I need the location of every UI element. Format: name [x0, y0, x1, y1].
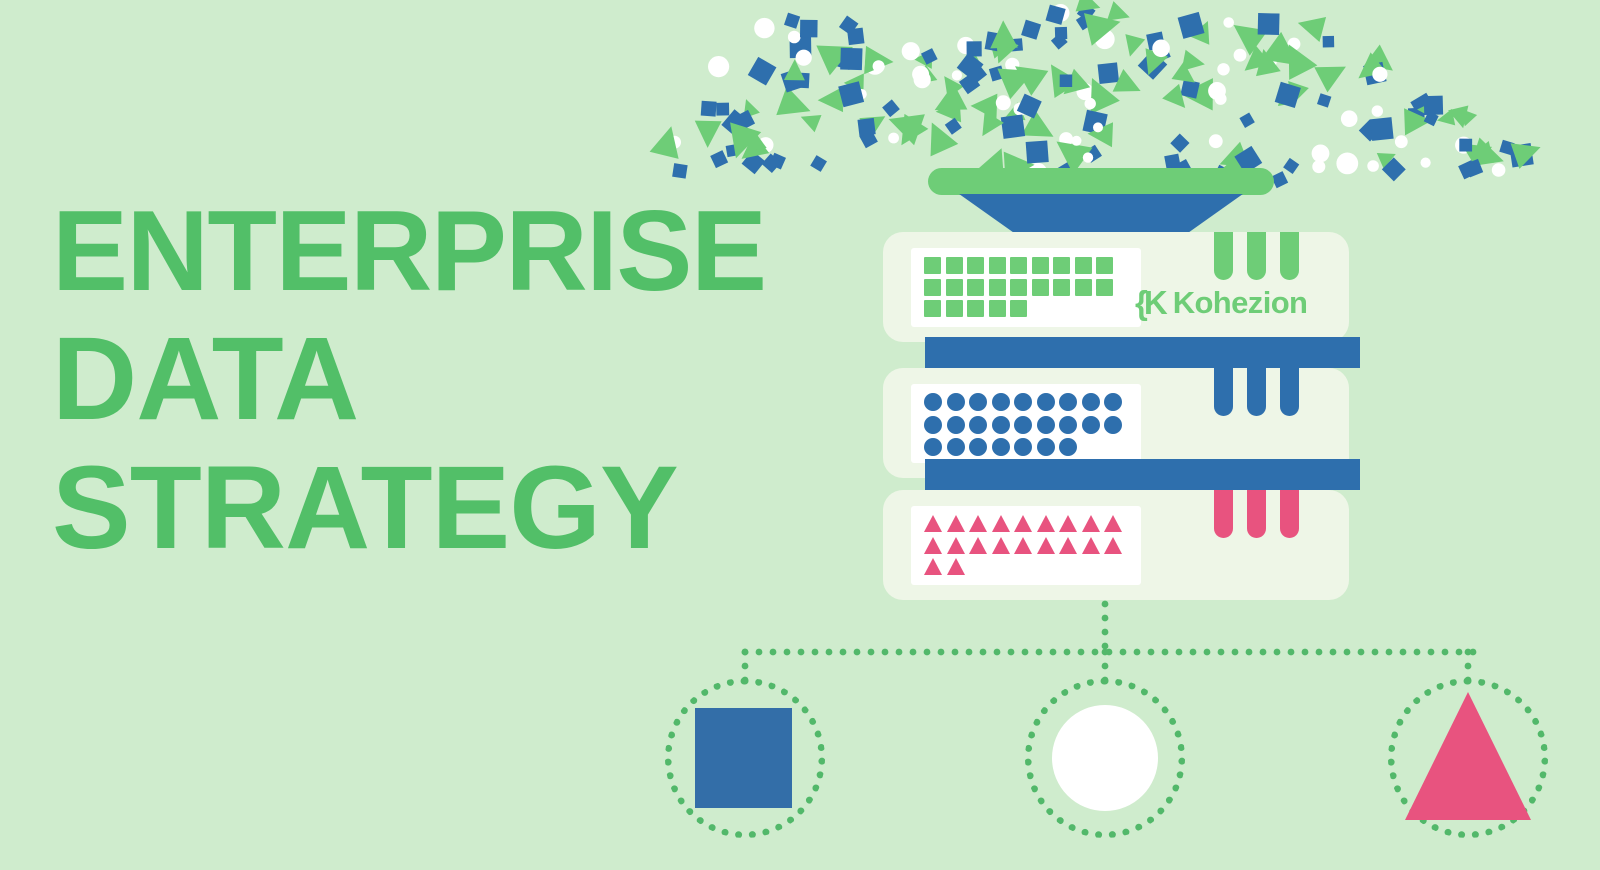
confetti-square-icon	[1060, 74, 1073, 87]
triangle-glyph-icon	[992, 515, 1010, 532]
connector-dot	[1465, 649, 1472, 656]
connector-dot	[1288, 649, 1295, 656]
confetti-triangle-icon	[1120, 34, 1145, 59]
circle-glyph-icon	[947, 393, 965, 411]
confetti-square-icon	[967, 41, 982, 56]
circle-glyph-icon	[924, 393, 942, 411]
confetti-triangle-icon	[816, 32, 859, 75]
confetti-triangle-icon	[970, 93, 997, 120]
confetti-triangle-icon	[859, 106, 891, 138]
connector-dot	[742, 649, 749, 656]
tube-icon	[1247, 232, 1266, 280]
connector-dot	[1102, 615, 1109, 622]
circle-glyph-icon	[924, 416, 942, 434]
tube-group-pink	[1214, 490, 1299, 538]
square-glyph-icon	[946, 279, 963, 296]
connector-dot	[1470, 649, 1477, 656]
kohezion-logo: {K Kohezion	[1135, 286, 1307, 319]
server-stack: {K Kohezion	[883, 232, 1349, 600]
confetti-square-icon	[1509, 143, 1533, 167]
connector-dot	[826, 649, 833, 656]
confetti-circle-icon	[1095, 29, 1115, 49]
square-glyph-icon	[1096, 257, 1113, 274]
confetti-circle-icon	[888, 133, 899, 144]
confetti-square-icon	[1323, 36, 1335, 48]
confetti-circle-icon	[902, 42, 920, 60]
confetti-triangle-icon	[935, 98, 961, 124]
confetti-circle-icon	[952, 70, 962, 80]
square-glyph-icon	[967, 279, 984, 296]
triangle-glyph-icon	[1104, 515, 1122, 532]
confetti-triangle-icon	[962, 48, 987, 73]
confetti-circle-icon	[1421, 158, 1431, 168]
connector-dot	[854, 649, 861, 656]
circle-glyph-icon	[924, 438, 942, 456]
confetti-square-icon	[1258, 13, 1280, 35]
circle-glyph-icon	[1014, 393, 1032, 411]
confetti-circle-icon	[1072, 136, 1082, 146]
connector-dot	[1176, 649, 1183, 656]
confetti-square-icon	[716, 103, 729, 116]
triangle-glyph-icon	[1059, 515, 1077, 532]
confetti-square-icon	[1317, 93, 1331, 107]
glyph-row	[924, 300, 1141, 317]
triangle-glyph-icon	[1104, 537, 1122, 554]
page-title: ENTERPRISE DATA STRATEGY	[52, 196, 852, 567]
connector-dot	[980, 649, 987, 656]
confetti-triangle-icon	[911, 65, 937, 91]
tube-group-blue	[1214, 368, 1299, 416]
triangle-glyph-icon	[1059, 537, 1077, 554]
square-glyph-icon	[924, 279, 941, 296]
title-line-2: DATA	[52, 322, 852, 438]
confetti-square-icon	[1424, 111, 1439, 126]
connector-dot	[1414, 649, 1421, 656]
confetti-square-icon	[1363, 62, 1386, 85]
connector-dot	[1008, 649, 1015, 656]
confetti-triangle-icon	[844, 73, 864, 93]
confetti-circle-icon	[1083, 152, 1093, 162]
confetti-square-icon	[1283, 158, 1299, 174]
confetti-square-icon	[1146, 32, 1165, 51]
confetti-triangle-icon	[889, 114, 928, 153]
confetti-circle-icon	[758, 137, 774, 153]
tube-icon	[1214, 490, 1233, 538]
kohezion-wordmark: Kohezion	[1173, 287, 1308, 318]
confetti-triangle-icon	[1448, 105, 1473, 130]
glyph-row	[924, 393, 1141, 411]
confetti-square-icon	[1010, 38, 1023, 51]
confetti-circle-icon	[754, 18, 774, 38]
circle-glyph-icon	[1037, 393, 1055, 411]
connector-dot	[1274, 649, 1281, 656]
glyph-panel-squares	[911, 248, 1141, 327]
circle-glyph-icon	[1037, 438, 1055, 456]
confetti-triangle-icon	[1435, 109, 1455, 129]
square-glyph-icon	[989, 279, 1006, 296]
circle-glyph-icon	[1082, 416, 1100, 434]
confetti-square-icon	[800, 20, 818, 38]
confetti-square-icon	[781, 68, 805, 92]
confetti-circle-icon	[1234, 49, 1247, 62]
confetti-triangle-icon	[1087, 121, 1113, 147]
confetti-triangle-icon	[1377, 146, 1399, 168]
connector-dot	[938, 649, 945, 656]
square-glyph-icon	[946, 300, 963, 317]
confetti-square-icon	[1055, 27, 1067, 39]
confetti-triangle-icon	[1055, 69, 1090, 104]
confetti-square-icon	[839, 16, 859, 36]
triangle-glyph-icon	[992, 537, 1010, 554]
confetti-circle-icon	[1395, 135, 1408, 148]
circle-glyph-icon	[1059, 438, 1077, 456]
confetti-triangle-icon	[1113, 69, 1146, 102]
confetti-circle-icon	[1336, 153, 1358, 175]
confetti-square-icon	[859, 130, 878, 149]
confetti-square-icon	[840, 48, 862, 70]
confetti-triangle-icon	[989, 33, 1014, 58]
confetti-circle-icon	[1492, 163, 1506, 177]
glyph-row	[924, 257, 1141, 274]
confetti-triangle-icon	[1275, 87, 1294, 106]
confetti-triangle-icon	[797, 108, 821, 132]
confetti-triangle-icon	[1364, 44, 1401, 81]
confetti-triangle-icon	[776, 86, 815, 125]
blue-square-shape	[695, 708, 792, 808]
circle-glyph-icon	[1037, 416, 1055, 434]
confetti-square-icon	[1359, 119, 1381, 141]
triangle-glyph-icon	[1037, 537, 1055, 554]
square-glyph-icon	[1053, 279, 1070, 296]
confetti-triangle-icon	[997, 56, 1040, 99]
circle-glyph-icon	[1104, 393, 1122, 411]
confetti-circle-icon	[1059, 132, 1073, 146]
confetti-triangle-icon	[1180, 78, 1213, 111]
node-circle	[1025, 678, 1185, 838]
confetti-square-icon	[959, 73, 980, 94]
confetti-circle-icon	[1414, 106, 1426, 118]
connector-dot	[1120, 649, 1127, 656]
triangle-glyph-icon	[1082, 515, 1100, 532]
square-glyph-icon	[989, 257, 1006, 274]
confetti-triangle-icon	[784, 59, 805, 80]
funnel-rim	[928, 168, 1274, 195]
confetti-triangle-icon	[1162, 84, 1193, 115]
connector-dot	[924, 649, 931, 656]
connector-dot	[1050, 649, 1057, 656]
connector-dot	[742, 663, 749, 670]
confetti-square-icon	[784, 13, 800, 29]
triangle-glyph-icon	[947, 558, 965, 575]
triangle-glyph-icon	[924, 558, 942, 575]
confetti-triangle-icon	[913, 50, 932, 69]
confetti-triangle-icon	[1251, 46, 1281, 76]
confetti-square-icon	[921, 48, 938, 65]
confetti-triangle-icon	[1404, 107, 1432, 135]
connector-dot	[1022, 649, 1029, 656]
confetti-triangle-icon	[1295, 10, 1327, 42]
confetti-triangle-icon	[936, 71, 963, 98]
connector-dot	[770, 649, 777, 656]
confetti-circle-icon	[1077, 83, 1094, 100]
circle-glyph-icon	[969, 416, 987, 434]
connector-dot	[1064, 649, 1071, 656]
confetti-circle-icon	[1260, 52, 1277, 69]
confetti-square-icon	[1275, 82, 1301, 108]
confetti-square-icon	[1082, 110, 1107, 135]
confetti-triangle-icon	[989, 20, 1017, 48]
confetti-circle-icon	[1312, 145, 1330, 163]
confetti-triangle-icon	[1076, 0, 1104, 19]
connector-dot	[742, 649, 749, 656]
confetti-circle-icon	[788, 31, 801, 44]
square-glyph-icon	[1010, 279, 1027, 296]
confetti-square-icon	[1138, 50, 1168, 80]
confetti-triangle-icon	[720, 122, 761, 163]
circle-glyph-icon	[992, 416, 1010, 434]
confetti-triangle-icon	[973, 111, 1004, 142]
confetti-square-icon	[794, 72, 810, 88]
connector-dot	[1102, 663, 1109, 670]
server-rail-2	[925, 459, 1360, 490]
square-glyph-icon	[1053, 257, 1070, 274]
confetti-square-icon	[701, 101, 717, 117]
white-circle-shape	[1052, 705, 1158, 811]
connector-dot	[1106, 649, 1113, 656]
square-glyph-icon	[1032, 257, 1049, 274]
confetti-square-icon	[1459, 139, 1472, 152]
confetti-square-icon	[1178, 12, 1205, 39]
confetti-triangle-icon	[1350, 52, 1386, 88]
connector-dot	[1148, 649, 1155, 656]
square-glyph-icon	[1010, 257, 1027, 274]
square-glyph-icon	[946, 257, 963, 274]
confetti-triangle-icon	[928, 84, 968, 124]
confetti-circle-icon	[668, 136, 681, 149]
connector-dot	[1316, 649, 1323, 656]
square-glyph-icon	[1096, 279, 1113, 296]
confetti-square-icon	[882, 99, 900, 117]
glyph-panel-dots	[911, 384, 1141, 463]
confetti-circle-icon	[1209, 134, 1223, 148]
confetti-square-icon	[726, 144, 739, 157]
confetti-square-icon	[989, 65, 1005, 81]
square-glyph-icon	[924, 300, 941, 317]
confetti-circle-icon	[1372, 67, 1387, 82]
confetti-square-icon	[1424, 96, 1443, 115]
confetti-triangle-icon	[1261, 32, 1308, 79]
confetti-triangle-icon	[1107, 1, 1133, 27]
confetti-triangle-icon	[1470, 137, 1508, 175]
confetti-circle-icon	[1372, 105, 1383, 116]
confetti-circle-icon	[957, 37, 974, 54]
confetti-square-icon	[1465, 159, 1483, 177]
connector-dot	[1302, 649, 1309, 656]
confetti-square-icon	[1021, 20, 1041, 40]
confetti-triangle-icon	[1225, 12, 1268, 55]
confetti-triangle-icon	[1182, 50, 1207, 75]
confetti-triangle-icon	[918, 116, 958, 156]
confetti-square-icon	[721, 109, 750, 138]
glyph-row	[924, 558, 1141, 575]
poster-canvas: ENTERPRISE DATA STRATEGY {K Kohezion	[0, 0, 1600, 870]
confetti-square-icon	[672, 163, 688, 179]
triangle-glyph-icon	[1037, 515, 1055, 532]
confetti-triangle-icon	[1511, 134, 1545, 168]
server-rail-1	[925, 337, 1360, 368]
connector-dot	[1092, 649, 1099, 656]
confetti-square-icon	[1076, 13, 1093, 30]
confetti-circle-icon	[1090, 19, 1109, 38]
circle-glyph-icon	[1014, 416, 1032, 434]
connector-dot	[1078, 649, 1085, 656]
confetti-triangle-icon	[694, 121, 721, 148]
confetti-square-icon	[1153, 44, 1170, 61]
tube-icon	[1280, 368, 1299, 416]
confetti-triangle-icon	[739, 132, 766, 159]
circle-glyph-icon	[947, 438, 965, 456]
confetti-triangle-icon	[987, 36, 1019, 68]
glyph-row	[924, 416, 1141, 434]
glyph-row	[924, 515, 1141, 532]
confetti-square-icon	[810, 155, 827, 172]
circle-glyph-icon	[969, 393, 987, 411]
connector-dot	[994, 649, 1001, 656]
confetti-square-icon	[957, 53, 984, 80]
glyph-row	[924, 438, 1141, 456]
confetti-square-icon	[857, 118, 875, 136]
confetti-square-icon	[1408, 108, 1425, 125]
confetti-square-icon	[945, 118, 962, 135]
confetti-triangle-icon	[738, 96, 760, 118]
connector-dot	[1218, 649, 1225, 656]
triangle-glyph-icon	[1082, 537, 1100, 554]
connector-dot	[1102, 601, 1109, 608]
triangle-glyph-icon	[924, 537, 942, 554]
confetti-square-icon	[1239, 113, 1254, 128]
confetti-square-icon	[1001, 114, 1025, 138]
confetti-square-icon	[1499, 140, 1514, 155]
connector-dot	[840, 649, 847, 656]
confetti-circle-icon	[914, 71, 931, 88]
confetti-square-icon	[1170, 133, 1189, 152]
tube-group-green	[1214, 232, 1299, 280]
connector-dot	[1372, 649, 1379, 656]
circle-glyph-icon	[992, 393, 1010, 411]
glyph-panel-triangles	[911, 506, 1141, 585]
connector-dot	[1456, 649, 1463, 656]
confetti-circle-icon	[796, 50, 812, 66]
confetti-triangle-icon	[1084, 5, 1124, 45]
confetti-circle-icon	[1152, 40, 1170, 58]
confetti-circle-icon	[856, 89, 866, 99]
confetti-triangle-icon	[1137, 48, 1168, 79]
connector-dot	[966, 649, 973, 656]
connector-dot	[1465, 663, 1472, 670]
confetti-square-icon	[1026, 140, 1049, 163]
connector-dot	[1330, 649, 1337, 656]
confetti-square-icon	[847, 28, 864, 45]
confetti-triangle-icon	[1021, 110, 1060, 149]
connector-dot	[896, 649, 903, 656]
connector-dot	[1260, 649, 1267, 656]
confetti-square-icon	[742, 151, 766, 175]
square-glyph-icon	[967, 257, 984, 274]
circle-glyph-icon	[1059, 416, 1077, 434]
confetti-circle-icon	[865, 54, 885, 74]
circle-glyph-icon	[1104, 416, 1122, 434]
confetti-square-icon	[734, 110, 755, 131]
circle-glyph-icon	[1082, 393, 1100, 411]
tube-icon	[1247, 368, 1266, 416]
connector-dot	[1036, 649, 1043, 656]
confetti-triangle-icon	[1006, 54, 1048, 96]
confetti-square-icon	[1077, 3, 1096, 22]
connector-dot	[1102, 649, 1109, 656]
confetti-triangle-icon	[864, 46, 894, 76]
connector-dot	[1344, 649, 1351, 656]
confetti-triangle-icon	[1314, 54, 1352, 92]
triangle-glyph-icon	[1014, 515, 1032, 532]
confetti-triangle-icon	[650, 123, 686, 159]
connector-dot	[1190, 649, 1197, 656]
confetti-circle-icon	[1014, 103, 1027, 116]
confetti-square-icon	[1017, 94, 1042, 119]
title-line-1: ENTERPRISE	[52, 196, 852, 308]
confetti-circle-icon	[1215, 93, 1227, 105]
connector-dot	[910, 649, 917, 656]
confetti-circle-icon	[1208, 82, 1226, 100]
triangle-glyph-icon	[969, 515, 987, 532]
connector-dot	[1204, 649, 1211, 656]
confetti-circle-icon	[1085, 98, 1096, 109]
circle-glyph-icon	[992, 438, 1010, 456]
confetti-square-icon	[836, 53, 853, 70]
confetti-circle-icon	[1288, 38, 1301, 51]
tube-icon	[1280, 232, 1299, 280]
connector-dot	[784, 649, 791, 656]
pink-triangle-shape	[1405, 692, 1531, 820]
connector-dot	[1442, 649, 1449, 656]
confetti-triangle-icon	[1467, 141, 1494, 168]
kohezion-brace-icon: {K	[1135, 286, 1164, 319]
connector-dot	[756, 649, 763, 656]
connector-dot	[868, 649, 875, 656]
square-glyph-icon	[1032, 279, 1049, 296]
confetti-circle-icon	[1455, 137, 1472, 154]
confetti-square-icon	[1051, 33, 1068, 50]
square-glyph-icon	[1075, 257, 1092, 274]
confetti-triangle-icon	[817, 87, 843, 113]
tube-icon	[1214, 232, 1233, 280]
square-glyph-icon	[967, 300, 984, 317]
confetti-square-icon	[762, 154, 781, 173]
confetti-triangle-icon	[1417, 100, 1436, 119]
confetti-triangle-icon	[734, 133, 770, 169]
confetti-triangle-icon	[1237, 45, 1272, 80]
node-square	[665, 678, 825, 838]
triangle-glyph-icon	[1014, 537, 1032, 554]
connector-dot	[1162, 649, 1169, 656]
confetti-square-icon	[748, 57, 777, 86]
confetti-circle-icon	[1217, 63, 1229, 75]
confetti-circle-icon	[708, 56, 729, 77]
confetti-triangle-icon	[1275, 37, 1318, 80]
confetti-triangle-icon	[1453, 103, 1477, 127]
confetti-triangle-icon	[1038, 56, 1080, 98]
confetti-triangle-icon	[1077, 71, 1120, 114]
title-line-3: STRATEGY	[52, 451, 852, 567]
